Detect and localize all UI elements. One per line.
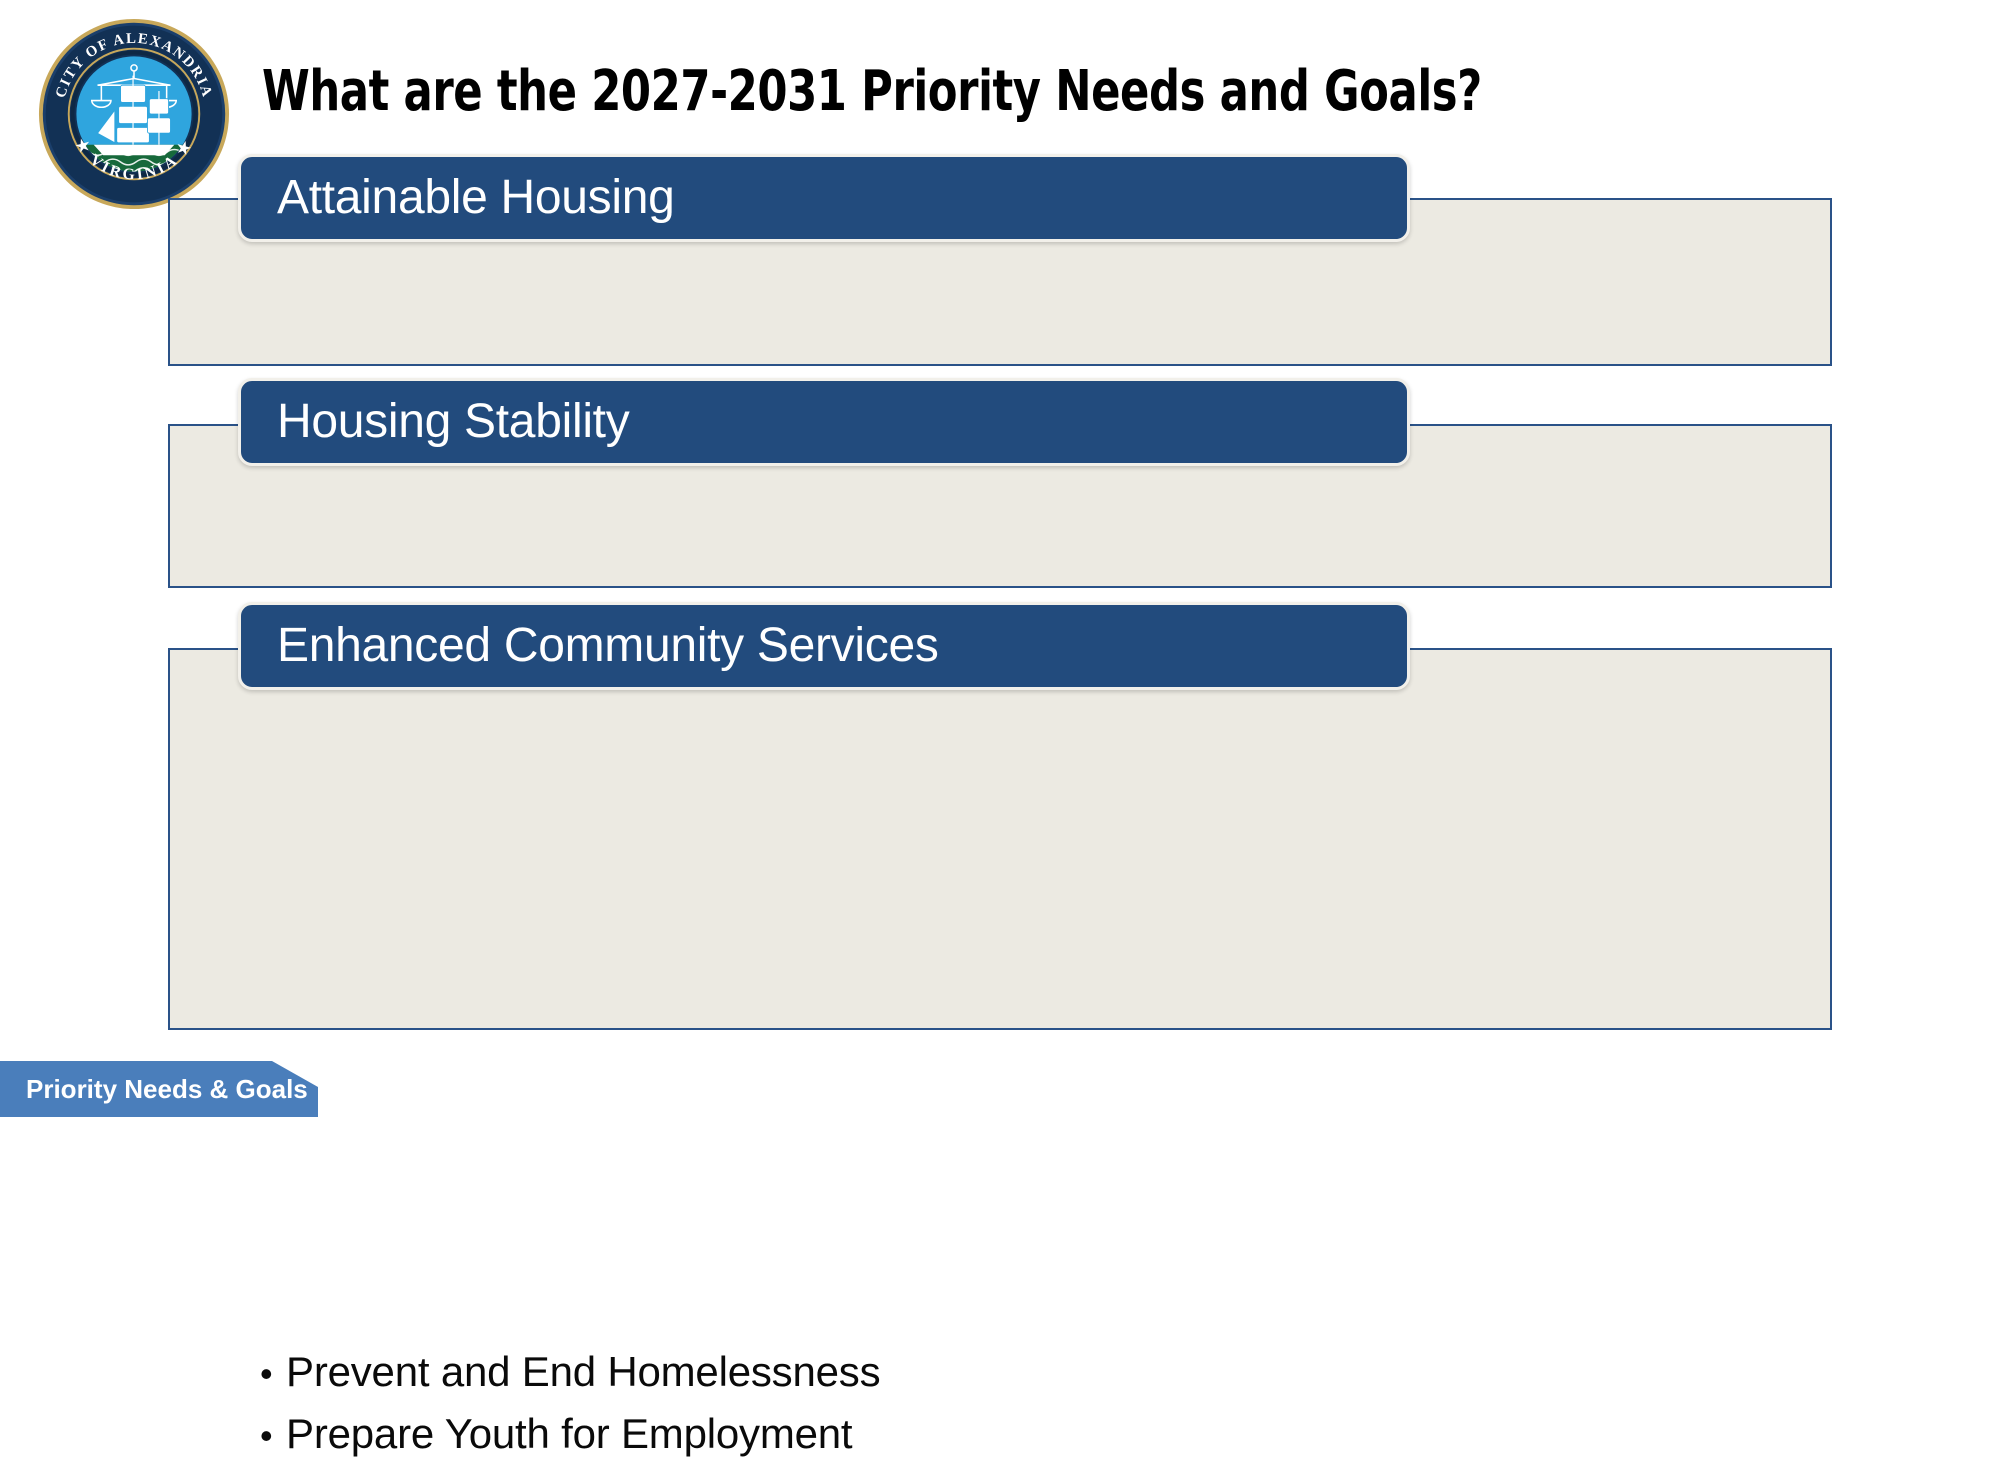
section-header-label: Enhanced Community Services <box>241 622 939 670</box>
section-header-banner: Enhanced Community Services <box>238 602 1410 690</box>
section-bullet-list: Prevent and End Homelessness Prepare You… <box>260 1342 1810 1466</box>
section-content-box: Prevent and End Homelessness Prepare You… <box>168 648 1832 1030</box>
section-header-banner: Attainable Housing <box>238 154 1410 242</box>
section-header-label: Attainable Housing <box>241 174 675 222</box>
list-item: Prevent and End Homelessness <box>260 1342 1810 1404</box>
section-header-banner: Housing Stability <box>238 378 1410 466</box>
city-seal-logo: CITY OF ALEXANDRIA ★ VIRGINIA ★ <box>38 18 230 210</box>
list-item: Prepare Youth for Employment <box>260 1404 1810 1466</box>
section-header-label: Housing Stability <box>241 398 629 446</box>
footer-section-label: Priority Needs & Goals <box>26 1074 308 1105</box>
page-title: What are the 2027-2031 Priority Needs an… <box>262 58 1482 126</box>
footer-section-tab: Priority Needs & Goals <box>0 1061 318 1117</box>
